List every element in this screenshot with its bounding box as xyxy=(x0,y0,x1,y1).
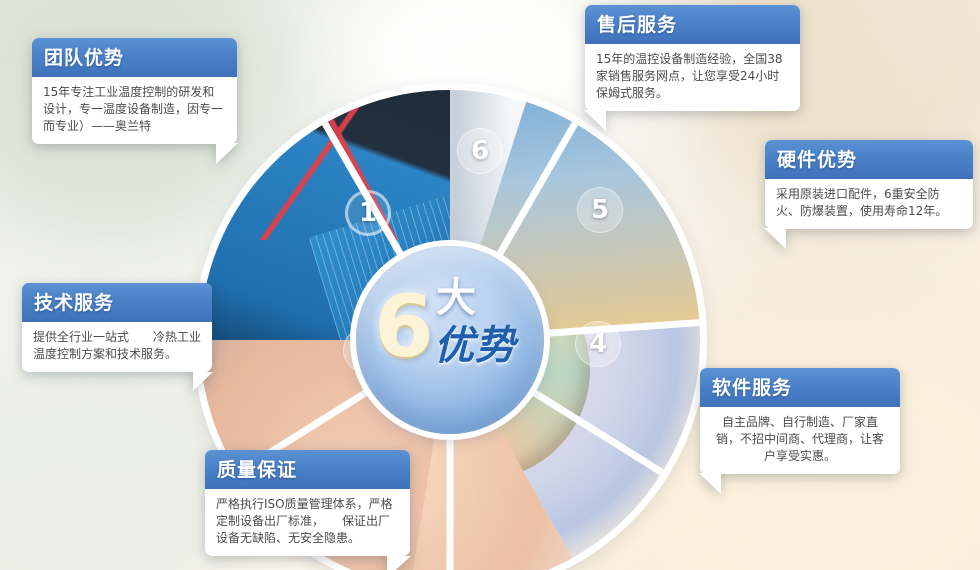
center-hub: 6 大 优势 xyxy=(356,246,544,434)
callout-technical-service[interactable]: 技术服务 提供全行业一站式 冷热工业温度控制方案和技术服务。 xyxy=(22,283,212,372)
callout-hardware-title: 硬件优势 xyxy=(765,140,973,179)
callout-software-service-title: 软件服务 xyxy=(700,368,900,407)
callout-after-sales-tail xyxy=(584,110,606,131)
callout-technical-service-box: 技术服务 提供全行业一站式 冷热工业温度控制方案和技术服务。 xyxy=(22,283,212,372)
marker-1[interactable]: 1 xyxy=(345,190,391,236)
callout-software-service-box: 软件服务 自主品牌、自行制造、厂家直销，不招中间商、代理商，让客户享受实惠。 xyxy=(700,368,900,474)
callout-after-sales-body: 15年的温控设备制造经验，全国38家销售服务网点，让您享受24小时保姆式服务。 xyxy=(585,44,800,111)
center-number: 6 xyxy=(374,284,434,370)
callout-software-service[interactable]: 软件服务 自主品牌、自行制造、厂家直销，不招中间商、代理商，让客户享受实惠。 xyxy=(700,368,900,474)
marker-5[interactable]: 5 xyxy=(577,187,623,233)
callout-team[interactable]: 团队优势 15年专注工业温度控制的研发和设计，专一温度设备制造，因专一而专业）—… xyxy=(32,38,237,144)
callout-quality-assurance-title: 质量保证 xyxy=(205,450,410,489)
callout-hardware-box: 硬件优势 采用原装进口配件，6重安全防火、防爆装置，使用寿命12年。 xyxy=(765,140,973,229)
callout-quality-assurance-box: 质量保证 严格执行ISO质量管理体系，严格定制设备出厂标准， 保证出厂设备无缺陷… xyxy=(205,450,410,556)
callout-technical-service-body: 提供全行业一站式 冷热工业温度控制方案和技术服务。 xyxy=(22,322,212,372)
marker-6[interactable]: 6 xyxy=(457,128,503,174)
marker-4[interactable]: 4 xyxy=(575,321,621,367)
callout-quality-assurance-tail xyxy=(387,556,411,570)
callout-quality-assurance-body: 严格执行ISO质量管理体系，严格定制设备出厂标准， 保证出厂设备无缺陷、无安全隐… xyxy=(205,489,410,556)
callout-team-box: 团队优势 15年专注工业温度控制的研发和设计，专一温度设备制造，因专一而专业）—… xyxy=(32,38,237,144)
callout-team-title: 团队优势 xyxy=(32,38,237,77)
callout-after-sales[interactable]: 售后服务 15年的温控设备制造经验，全国38家销售服务网点，让您享受24小时保姆… xyxy=(585,5,800,111)
callout-quality-assurance[interactable]: 质量保证 严格执行ISO质量管理体系，严格定制设备出厂标准， 保证出厂设备无缺陷… xyxy=(205,450,410,556)
callout-hardware-tail xyxy=(764,228,786,249)
callout-software-service-body: 自主品牌、自行制造、厂家直销，不招中间商、代理商，让客户享受实惠。 xyxy=(700,407,900,474)
callout-technical-service-title: 技术服务 xyxy=(22,283,212,322)
center-hub-text: 6 大 优势 xyxy=(370,280,530,400)
callout-team-body: 15年专注工业温度控制的研发和设计，专一温度设备制造，因专一而专业）——奥兰特 xyxy=(32,77,237,144)
callout-technical-service-tail xyxy=(193,372,213,391)
callout-after-sales-title: 售后服务 xyxy=(585,5,800,44)
callout-team-tail xyxy=(216,143,238,164)
callout-hardware-body: 采用原装进口配件，6重安全防火、防爆装置，使用寿命12年。 xyxy=(765,179,973,229)
center-big-word: 大 xyxy=(436,278,476,318)
callout-software-service-tail xyxy=(699,473,721,494)
callout-hardware[interactable]: 硬件优势 采用原装进口配件，6重安全防火、防爆装置，使用寿命12年。 xyxy=(765,140,973,229)
callout-after-sales-box: 售后服务 15年的温控设备制造经验，全国38家销售服务网点，让您享受24小时保姆… xyxy=(585,5,800,111)
center-script-word: 优势 xyxy=(434,324,516,368)
infographic-canvas: 1 2 3 4 5 6 6 大 优势 团队优势 15年专注工业温度控制的研发和设… xyxy=(0,0,980,570)
